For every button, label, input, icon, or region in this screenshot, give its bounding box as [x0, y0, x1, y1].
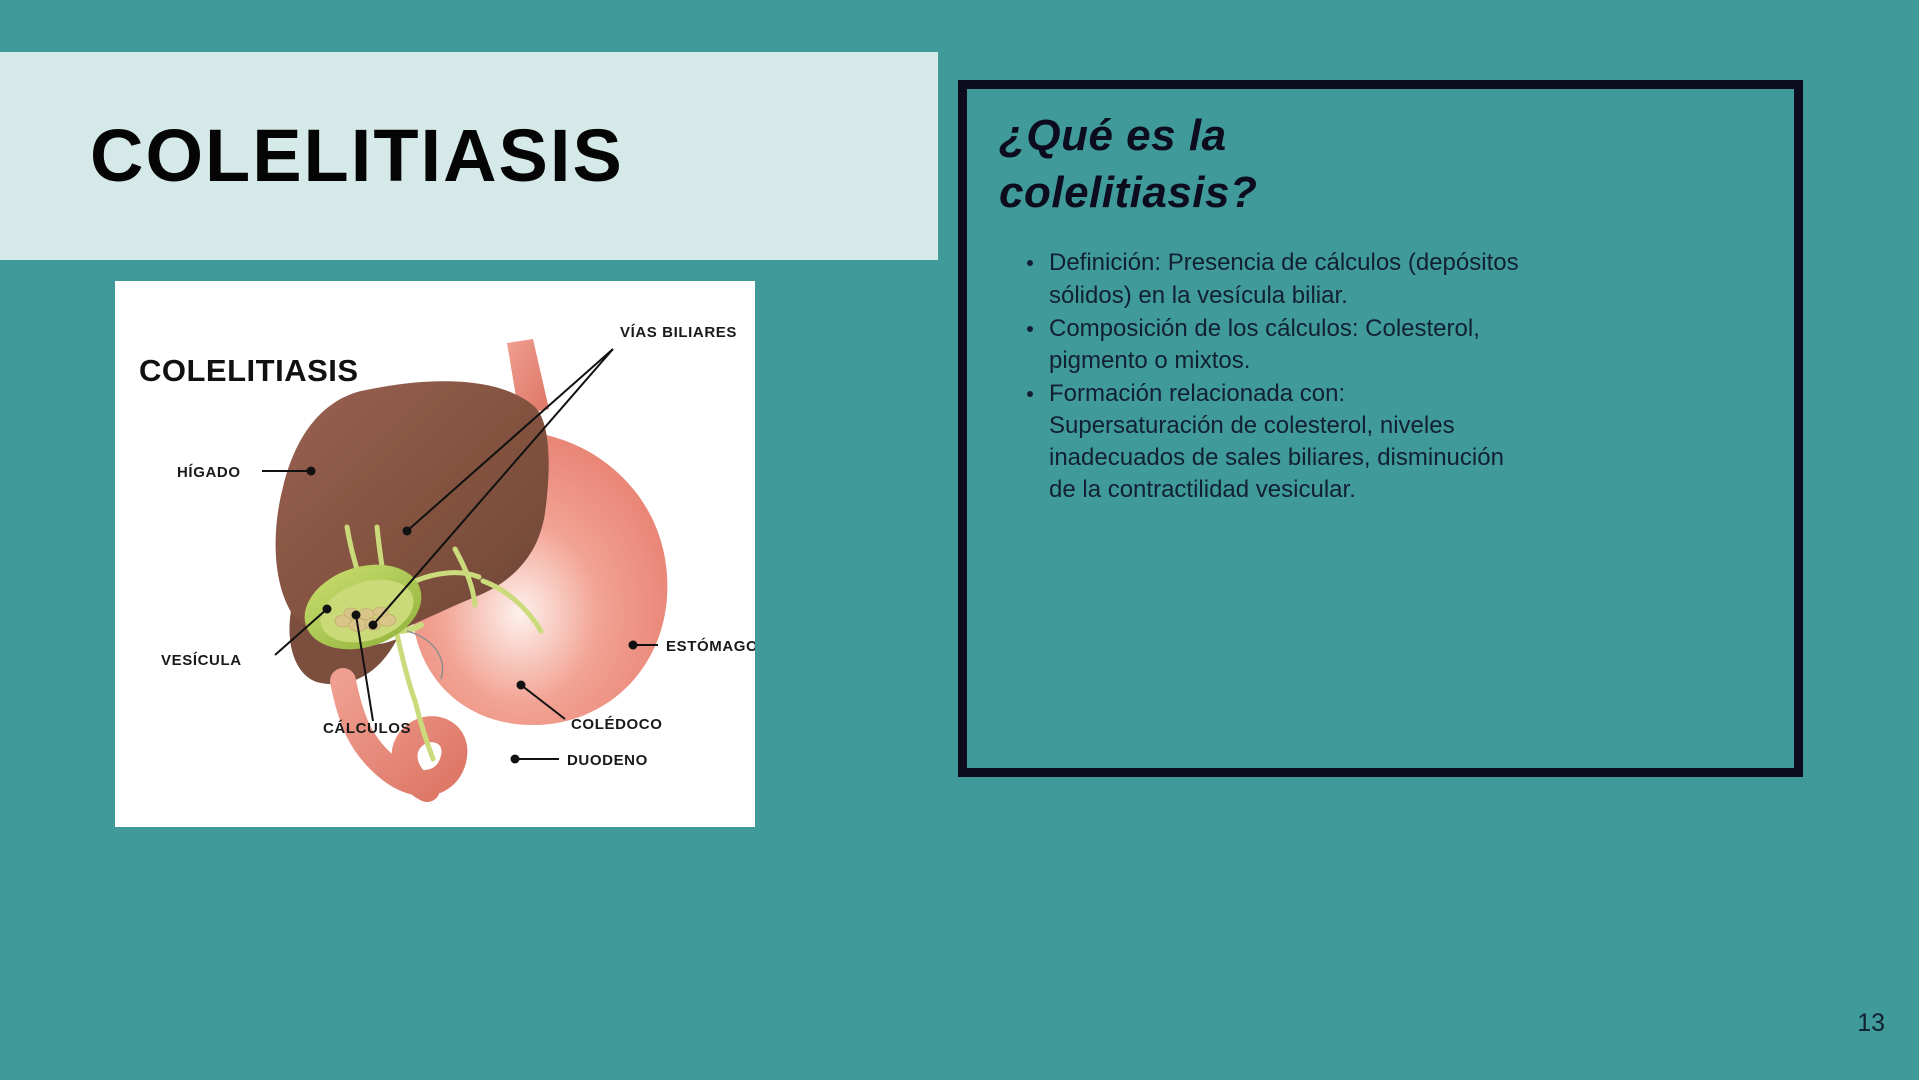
label-calculos: CÁLCULOS: [323, 720, 411, 737]
title-band: COLELITIASIS: [0, 52, 938, 260]
content-box: ¿Qué es la colelitiasis? Definición: Pre…: [958, 80, 1803, 777]
anatomy-illustration: COLELITIASIS: [115, 281, 755, 827]
label-vias-biliares: VÍAS BILIARES: [620, 324, 737, 341]
label-vesicula: VESÍCULA: [161, 652, 242, 669]
page-number: 13: [1857, 1009, 1885, 1038]
list-item: Definición: Presencia de cálculos (depós…: [1049, 247, 1519, 311]
content-heading: ¿Qué es la colelitiasis?: [999, 107, 1359, 221]
label-coledoco: COLÉDOCO: [571, 716, 662, 733]
anatomy-figure: COLELITIASIS: [115, 281, 755, 827]
bullet-list: Definición: Presencia de cálculos (depós…: [1025, 247, 1519, 506]
label-estomago: ESTÓMAGO: [666, 637, 755, 655]
list-item: Formación relacionada con: Supersaturaci…: [1049, 378, 1519, 507]
label-higado: HÍGADO: [177, 464, 241, 481]
slide-canvas: COLELITIASIS: [0, 0, 1919, 1080]
page-title: COLELITIASIS: [90, 119, 624, 193]
list-item: Composición de los cálculos: Colesterol,…: [1049, 313, 1519, 377]
label-duodeno: DUODENO: [567, 752, 648, 769]
figure-title: COLELITIASIS: [139, 353, 359, 388]
